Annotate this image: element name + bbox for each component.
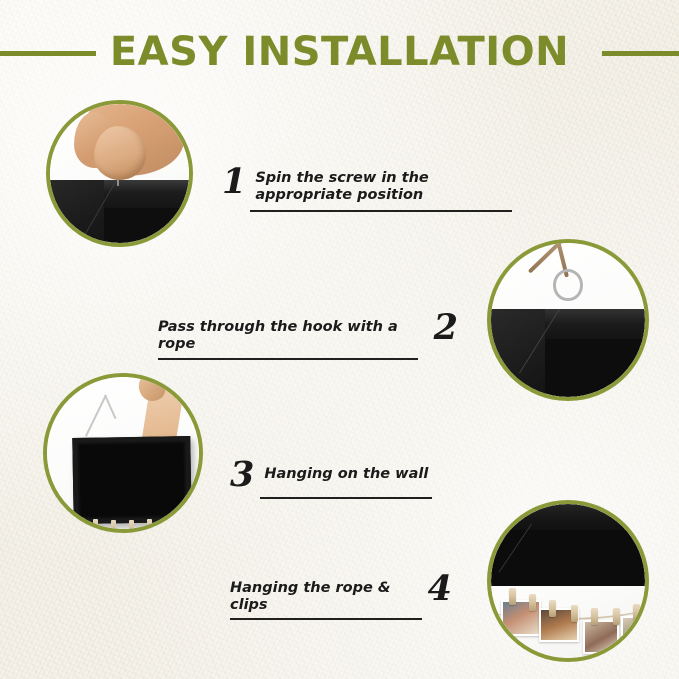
- step-1-text: Spin the screw in the appropriate positi…: [255, 164, 513, 204]
- clip: [509, 588, 516, 605]
- step-1-number: 1: [222, 164, 246, 200]
- step-4-text: Hanging the rope & clips: [230, 571, 416, 614]
- step-3-underline: [260, 497, 432, 499]
- step-2-caption: Pass through the hook with a rope 2: [158, 310, 458, 360]
- step-3-text: Hanging on the wall: [264, 457, 428, 483]
- clip-row: [71, 509, 191, 529]
- step-1-caption: 1 Spin the screw in the appropriate posi…: [222, 164, 522, 212]
- hanging-photo: [583, 620, 619, 654]
- clip: [529, 594, 536, 611]
- step-2-underline: [158, 358, 418, 360]
- step-3-caption: 3 Hanging on the wall: [230, 457, 440, 499]
- step-2-number: 2: [434, 310, 458, 346]
- clip: [613, 608, 620, 625]
- clip: [147, 519, 152, 529]
- hook-eye-ring: [553, 269, 583, 301]
- clip: [75, 517, 80, 529]
- step-3-photo-inner: [47, 377, 199, 529]
- header-rule-right: [602, 51, 679, 56]
- clip: [129, 520, 134, 529]
- step-4-number: 4: [428, 571, 452, 607]
- clip: [633, 604, 640, 621]
- thumb: [94, 126, 146, 180]
- step-4-underline: [230, 618, 422, 620]
- clip: [111, 520, 116, 529]
- step-2-photo: [487, 239, 649, 401]
- page-title: EASY INSTALLATION: [0, 22, 679, 82]
- easy-installation-infographic: EASY INSTALLATION 1 Spin the screw in th…: [0, 0, 679, 679]
- frame-inner-panel: [79, 443, 184, 517]
- clip: [591, 608, 598, 625]
- step-3-number: 3: [230, 457, 254, 493]
- step-4-caption: Hanging the rope & clips 4: [230, 571, 452, 620]
- step-2-text: Pass through the hook with a rope: [158, 310, 424, 353]
- clip: [181, 514, 186, 528]
- clip: [571, 605, 578, 622]
- clip: [93, 519, 98, 529]
- step-2-photo-inner: [491, 243, 645, 397]
- step-1-underline: [250, 210, 512, 212]
- header: EASY INSTALLATION: [0, 22, 679, 88]
- step-1-photo: [46, 100, 193, 247]
- clip: [165, 517, 170, 529]
- step-4-photo: [487, 500, 649, 662]
- step-1-photo-inner: [50, 104, 189, 243]
- step-4-photo-inner: [491, 504, 645, 658]
- clip: [549, 600, 556, 617]
- hanging-photo: [621, 616, 645, 648]
- step-3-photo: [43, 373, 203, 533]
